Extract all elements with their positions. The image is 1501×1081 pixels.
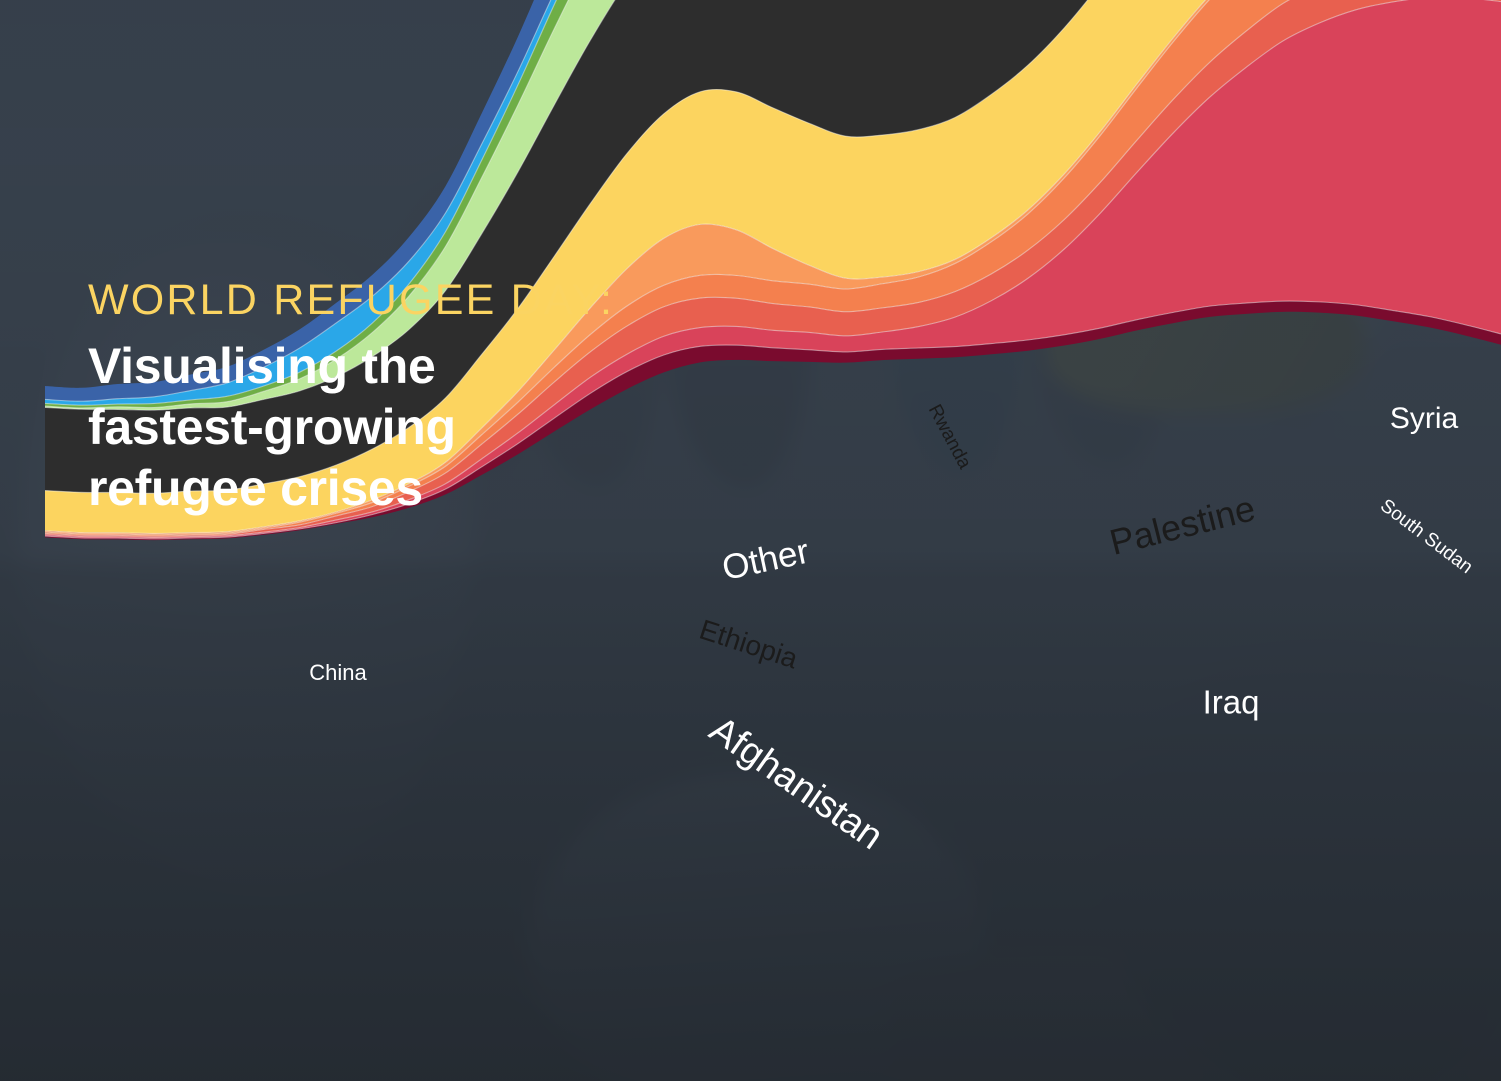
stream-label-syria: Syria <box>1390 402 1459 435</box>
stream-label-china: China <box>309 660 367 685</box>
stream-label-south-sudan: South Sudan <box>1376 495 1476 578</box>
title-line-3: refugee crises <box>88 458 728 519</box>
stream-label-other: Other <box>719 532 813 588</box>
title-line-2: fastest-growing <box>88 397 728 458</box>
headline-kicker: WORLD REFUGEE DAY: <box>88 278 728 324</box>
infographic-canvas: WORLD REFUGEE DAY: Visualising the faste… <box>0 0 1501 1081</box>
headline-block: WORLD REFUGEE DAY: Visualising the faste… <box>88 278 728 519</box>
stream-label-ethiopia: Ethiopia <box>696 614 802 675</box>
page-title: Visualising the fastest-growing refugee … <box>88 336 728 519</box>
streamgraph: SyriaSouth SudanPalestineRwandaOtherEthi… <box>0 0 1501 1081</box>
stream-label-iraq: Iraq <box>1203 684 1260 721</box>
stream-label-palestine: Palestine <box>1105 487 1259 563</box>
stream-label-rwanda: Rwanda <box>924 401 975 473</box>
stream-label-afghanistan: Afghanistan <box>702 709 891 859</box>
title-line-1: Visualising the <box>88 336 728 397</box>
